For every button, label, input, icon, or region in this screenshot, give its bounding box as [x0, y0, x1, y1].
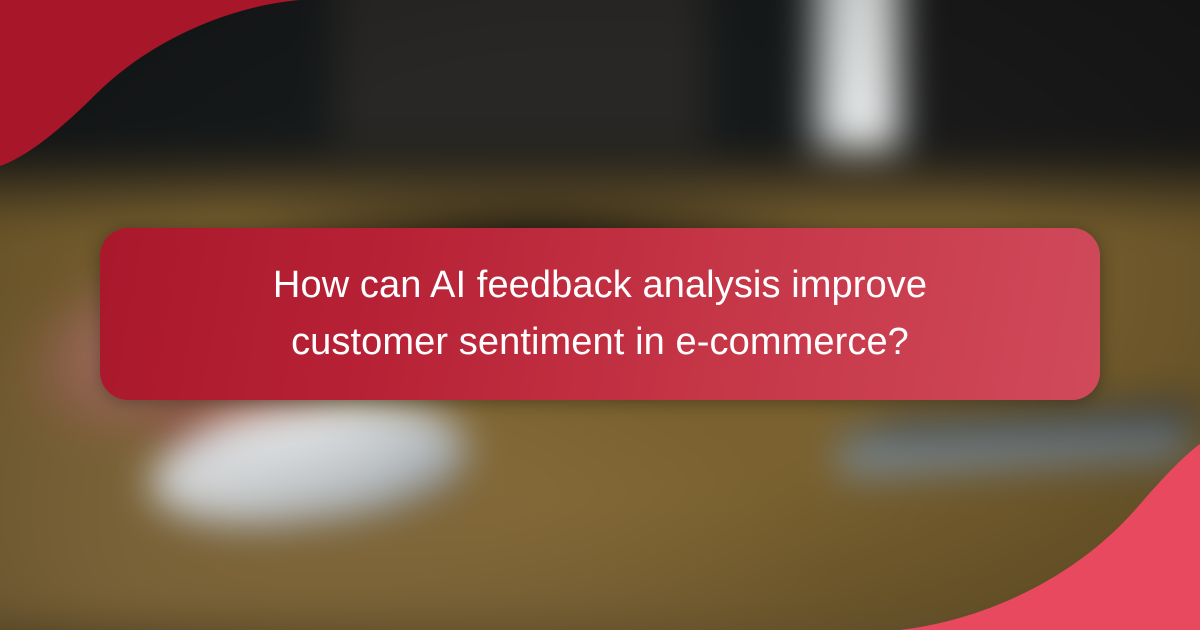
question-text: How can AI feedback analysis improve cus… — [230, 257, 970, 371]
promo-card: How can AI feedback analysis improve cus… — [0, 0, 1200, 630]
question-banner: How can AI feedback analysis improve cus… — [100, 228, 1100, 400]
